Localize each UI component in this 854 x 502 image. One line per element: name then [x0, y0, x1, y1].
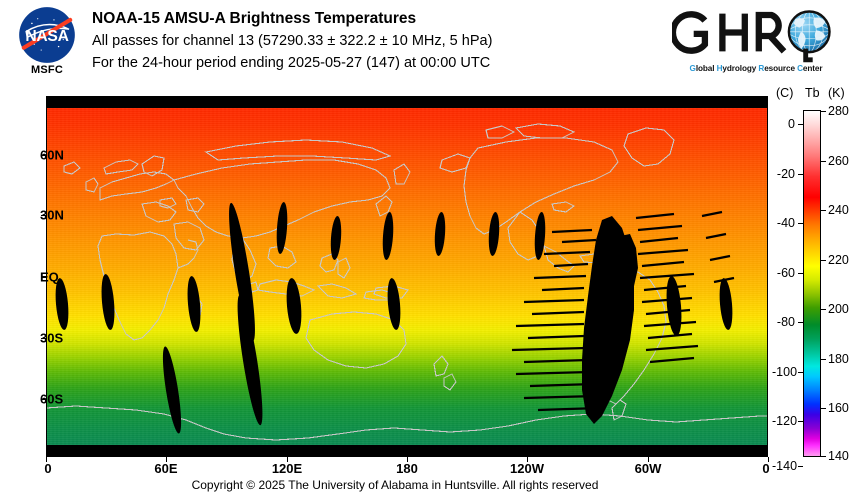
page-title: NOAA-15 AMSU-A Brightness Temperatures — [92, 8, 672, 30]
cb-tick-c — [798, 223, 803, 224]
cb-tick-c — [798, 421, 803, 422]
cb-tick-c — [798, 466, 803, 467]
cb-tick-k — [821, 161, 826, 162]
nasa-logo: NASA MSFC — [10, 6, 82, 88]
cb-label-c0: 0 — [772, 117, 795, 131]
cb-tick-k — [821, 408, 826, 409]
ghrc-wordmark-icon — [672, 8, 840, 64]
cb-label-c-100: -100 — [772, 365, 795, 379]
brightness-temperature-map[interactable] — [46, 96, 768, 457]
cb-label-240: 240 — [828, 203, 849, 217]
cb-tick-k — [821, 210, 826, 211]
cb-label-220: 220 — [828, 253, 849, 267]
cb-tick-k — [821, 111, 826, 112]
copyright-notice: Copyright © 2025 The University of Alaba… — [0, 478, 790, 492]
cb-label-c-80: -80 — [772, 315, 795, 329]
x-tick-label-0: 0 — [44, 461, 51, 476]
colorbar-gradient[interactable] — [803, 110, 821, 457]
cb-tick-k — [821, 260, 826, 261]
y-tick-label-60n: 60N — [40, 148, 64, 163]
cb-tick-c — [798, 174, 803, 175]
y-tick-label-60s: 60S — [40, 392, 63, 407]
y-tick-label-30n: 30N — [40, 208, 64, 223]
cb-label-c-60: -60 — [772, 266, 795, 280]
period-line: For the 24-hour period ending 2025-05-27… — [92, 52, 672, 74]
cb-label-180: 180 — [828, 352, 849, 366]
y-tick-label-eq: EQ — [40, 270, 59, 285]
cb-label-160: 160 — [828, 401, 849, 415]
cb-label-140: 140 — [828, 449, 849, 463]
nasa-meatball-icon: NASA — [18, 6, 76, 64]
colorbar-unit-kelvin: (K) — [828, 86, 845, 100]
colorbar-unit-celsius: (C) — [776, 86, 793, 100]
x-tick-label-120w: 120W — [510, 461, 544, 476]
x-tick-label-360: 0 — [762, 461, 769, 476]
channel-subtitle: All passes for channel 13 (57290.33 ± 32… — [92, 30, 672, 52]
cb-label-260: 260 — [828, 154, 849, 168]
cb-tick-k — [821, 309, 826, 310]
cb-tick-k — [821, 456, 826, 457]
cb-label-c-40: -40 — [772, 216, 795, 230]
x-tick-label-120e: 120E — [272, 461, 302, 476]
x-tick-label-60e: 60E — [154, 461, 177, 476]
ghrc-logo: Global Hydrology Resource Center — [672, 8, 840, 82]
x-tick-label-60w: 60W — [635, 461, 662, 476]
cb-tick-c — [798, 372, 803, 373]
cb-label-c-120: -120 — [772, 414, 795, 428]
ghrc-tagline: Global Hydrology Resource Center — [674, 64, 838, 73]
title-block: NOAA-15 AMSU-A Brightness Temperatures A… — [92, 8, 672, 74]
colorbar-variable: Tb — [805, 86, 820, 100]
cb-tick-c — [798, 322, 803, 323]
cb-label-c-140: -140 — [772, 459, 795, 473]
nasa-center-label: MSFC — [10, 64, 84, 76]
nodata-swath-gaps — [46, 108, 768, 445]
cb-label-200: 200 — [828, 302, 849, 316]
cb-label-280: 280 — [828, 104, 849, 118]
cb-label-c-20: -20 — [772, 167, 795, 181]
header: NASA MSFC NOAA-15 AMSU-A Brightness Temp… — [0, 0, 854, 92]
cb-tick-c — [798, 273, 803, 274]
y-tick-label-30s: 30S — [40, 331, 63, 346]
x-tick-label-180: 180 — [396, 461, 418, 476]
cb-tick-k — [821, 359, 826, 360]
cb-tick-c — [798, 124, 803, 125]
svg-text:NASA: NASA — [25, 28, 68, 45]
